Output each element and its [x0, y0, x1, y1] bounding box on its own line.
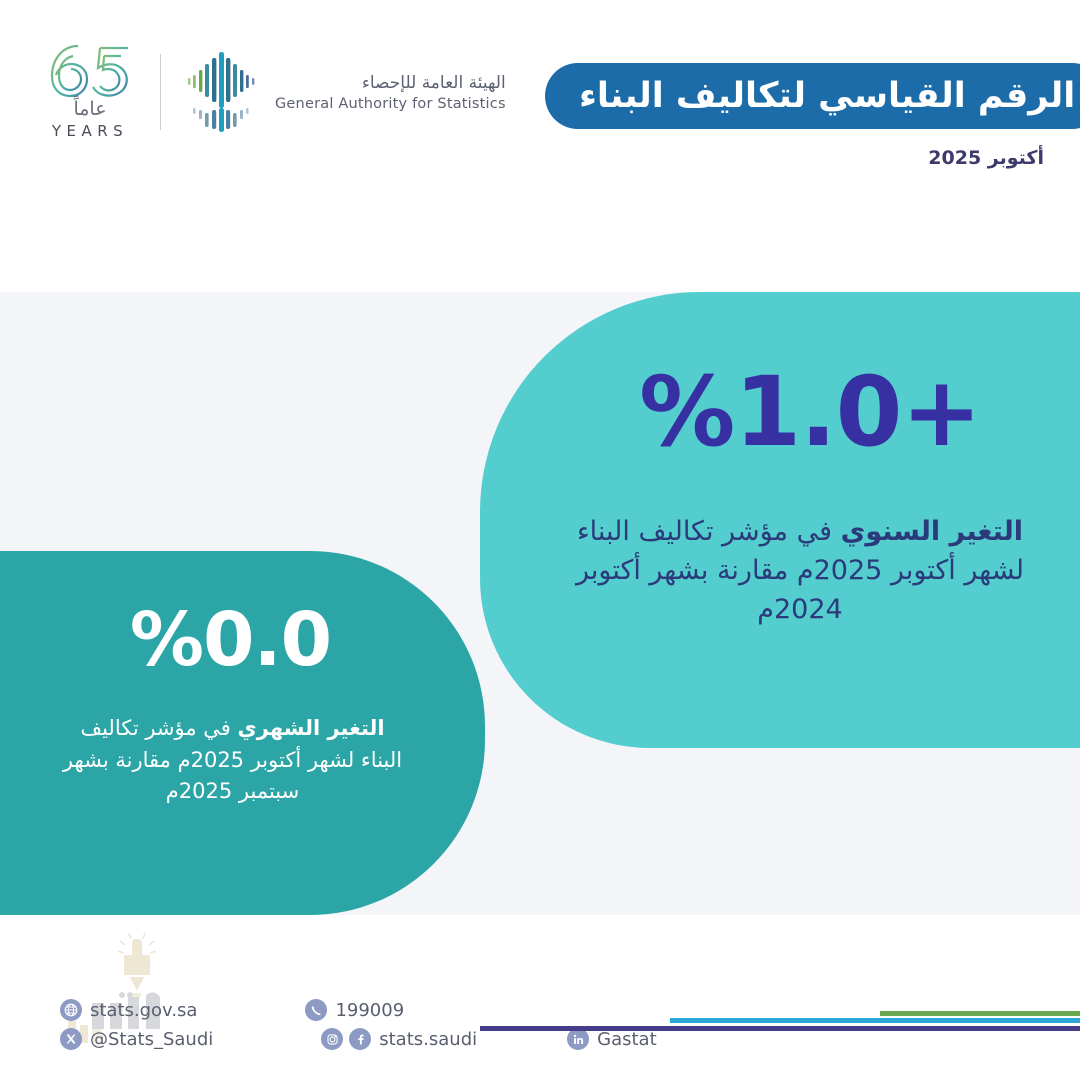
65-years-anniversary-logo: عاماً YEARS — [38, 40, 142, 144]
logo-group: عاماً YEARS — [38, 40, 506, 144]
65-number-icon — [42, 42, 138, 100]
gastat-waveform-logo — [183, 50, 261, 134]
monthly-change-caption: التغير الشهري في مؤشر تكاليف البناء لشهر… — [63, 713, 403, 808]
title-banner: الرقم القياسي لتكاليف البناء — [545, 63, 1080, 129]
monthly-change-value: %0.0 — [130, 603, 331, 677]
annual-change-value: %1.0+ — [639, 364, 981, 460]
annual-caption-bold: التغير السنوي — [841, 516, 1023, 547]
gastat-wordmark: الهيئة العامة للإحصاء General Authority … — [275, 73, 506, 112]
monthly-caption-bold: التغير الشهري — [238, 716, 385, 740]
authority-name-arabic: الهيئة العامة للإحصاء — [362, 73, 506, 93]
years-arabic-label: عاماً — [38, 98, 142, 120]
header: عاماً YEARS — [0, 0, 1080, 292]
gastat-logo: الهيئة العامة للإحصاء General Authority … — [183, 50, 506, 134]
cyan-bar — [670, 1018, 1080, 1023]
decorative-bars — [0, 915, 1080, 1080]
green-bar — [880, 1011, 1080, 1016]
annual-change-card: %1.0+ التغير السنوي في مؤشر تكاليف البنا… — [480, 292, 1080, 748]
purple-bar — [480, 1026, 1080, 1031]
footer: stats.gov.sa 199009 @Stats_Saudi — [0, 915, 1080, 1080]
annual-change-caption: التغير السنوي في مؤشر تكاليف البناء لشهر… — [565, 512, 1035, 629]
authority-name-english: General Authority for Statistics — [275, 96, 506, 112]
years-english-label: YEARS — [38, 122, 142, 140]
logo-divider — [160, 54, 161, 130]
report-date: أكتوبر 2025 — [928, 147, 1044, 169]
monthly-change-card: %0.0 التغير الشهري في مؤشر تكاليف البناء… — [0, 551, 485, 915]
page-title: الرقم القياسي لتكاليف البناء — [579, 76, 1075, 116]
